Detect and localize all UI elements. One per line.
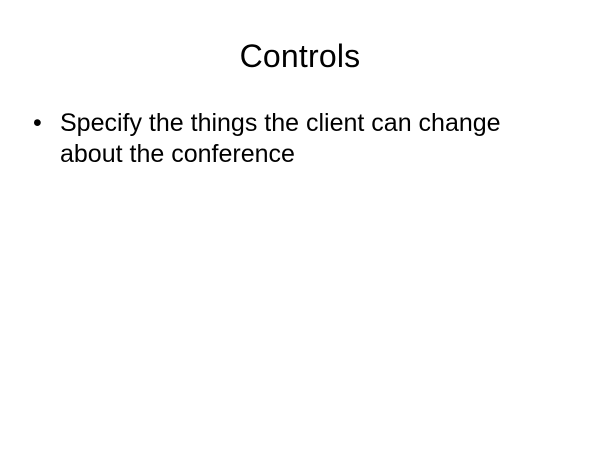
list-item: • Specify the things the client can chan… (30, 108, 570, 170)
slide-canvas: Controls • Specify the things the client… (0, 0, 600, 450)
list-item-label: Specify the things the client can change… (60, 108, 570, 170)
slide-body: • Specify the things the client can chan… (30, 108, 570, 170)
bullet-point-icon: • (33, 108, 53, 139)
page-title: Controls (0, 36, 600, 76)
